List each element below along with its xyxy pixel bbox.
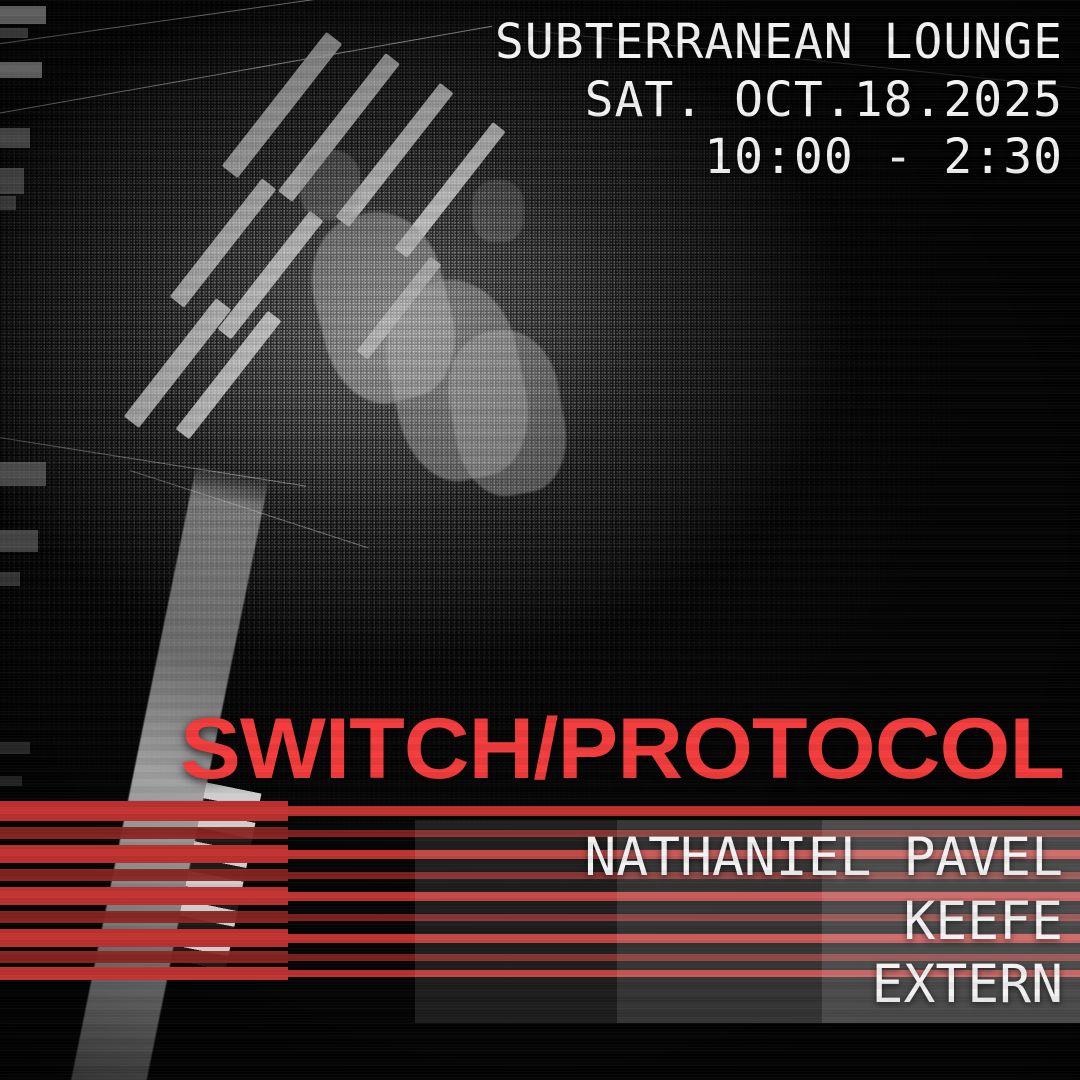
glitch-block	[0, 462, 46, 486]
glitch-block	[0, 6, 46, 24]
artist-lineup: NATHANIEL PAVEL KEEFE EXTERN	[584, 826, 1063, 1017]
glitch-block	[0, 168, 24, 194]
glitch-block	[0, 128, 30, 148]
artist-name: KEEFE	[584, 890, 1063, 954]
page-title: SWITCH/PROTOCOL	[0, 706, 1064, 792]
glitch-block	[0, 62, 42, 78]
event-time: 10:00 - 2:30	[495, 129, 1063, 187]
artist-name: NATHANIEL PAVEL	[584, 826, 1063, 890]
glitch-block	[0, 530, 38, 552]
glitch-block	[0, 572, 20, 586]
glitch-block	[0, 28, 28, 38]
poster-canvas: SUBTERRANEAN LOUNGE SAT. OCT.18.2025 10:…	[0, 0, 1080, 1080]
event-date: SAT. OCT.18.2025	[495, 72, 1063, 130]
glitch-block	[0, 196, 16, 210]
artist-name: EXTERN	[584, 953, 1063, 1017]
event-header: SUBTERRANEAN LOUNGE SAT. OCT.18.2025 10:…	[495, 14, 1063, 187]
venue-name: SUBTERRANEAN LOUNGE	[495, 14, 1063, 72]
